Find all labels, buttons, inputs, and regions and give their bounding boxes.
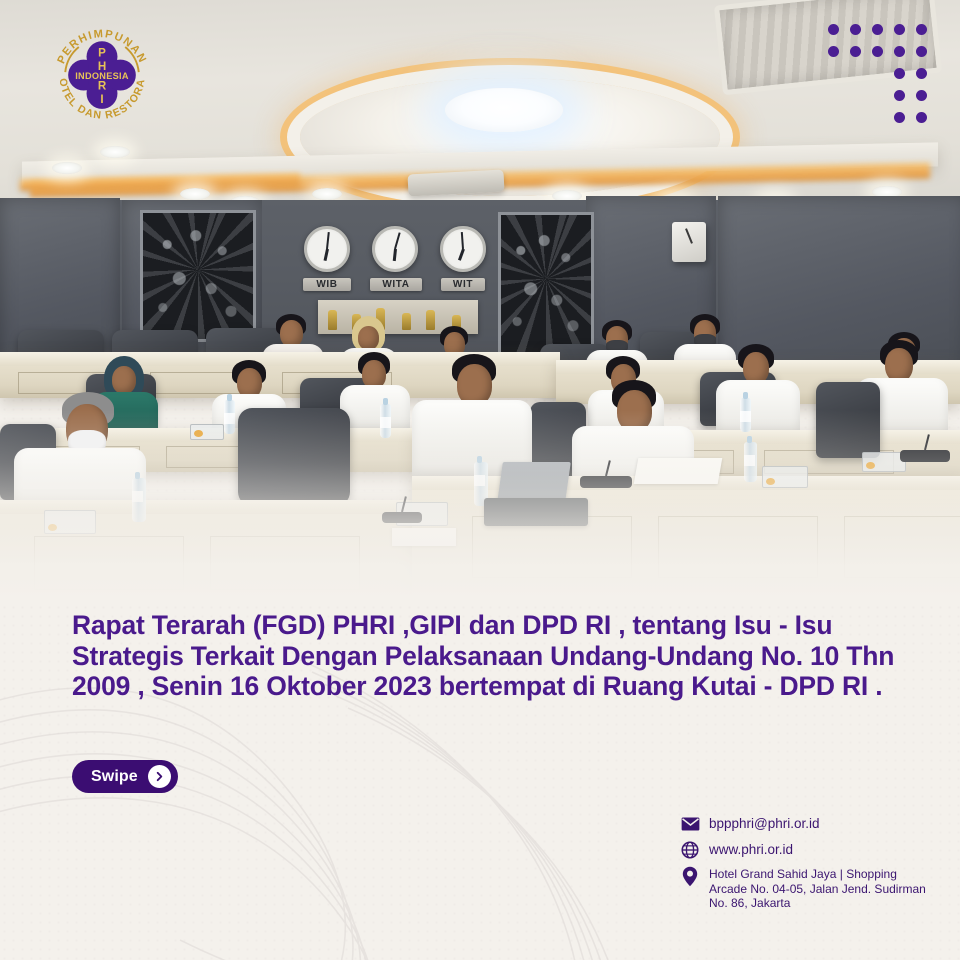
svg-text:I: I — [100, 93, 103, 106]
grid-dot — [916, 90, 927, 101]
phri-logo: PERHIMPUNAN HOTEL DAN RESTORAN P H R I I… — [44, 18, 160, 134]
desk-tier-1-right — [412, 476, 960, 600]
microphone — [900, 450, 950, 462]
contact-website-row[interactable]: www.phri.or.id — [680, 840, 930, 860]
grid-dot — [916, 24, 927, 35]
wall-speaker — [672, 222, 706, 262]
laptop — [497, 462, 571, 502]
contact-block: bppphri@phri.or.id www.phri.or.id — [680, 814, 930, 917]
downlight — [100, 146, 130, 158]
dot-grid-decoration — [828, 24, 938, 134]
svg-text:INDONESIA: INDONESIA — [75, 71, 129, 81]
grid-dot — [850, 46, 861, 57]
contact-email: bppphri@phri.or.id — [709, 814, 820, 832]
grid-dot — [872, 46, 883, 57]
ceiling-lamp — [445, 88, 563, 132]
poster-canvas: WIB WITA WIT — [0, 0, 960, 960]
grid-dot — [828, 46, 839, 57]
envelope-icon — [680, 814, 700, 834]
laptop-bag — [484, 498, 588, 526]
downlight — [180, 188, 210, 200]
contact-email-row[interactable]: bppphri@phri.or.id — [680, 814, 930, 834]
water-bottle — [744, 442, 757, 482]
contact-address: Hotel Grand Sahid Jaya | Shopping Arcade… — [709, 866, 930, 911]
carved-wall-panel-left — [140, 210, 256, 342]
clock-label-wita: WITA — [370, 278, 422, 291]
grid-dot — [894, 46, 905, 57]
svg-text:P: P — [98, 47, 106, 60]
carved-wall-panel-right — [498, 212, 594, 360]
chevron-right-icon — [148, 765, 171, 788]
grid-dot — [828, 24, 839, 35]
snack-box — [190, 424, 224, 440]
water-bottle — [132, 478, 146, 522]
grid-dot — [894, 90, 905, 101]
wall-clock-wib — [304, 226, 350, 272]
wall-clock-wita — [372, 226, 418, 272]
grid-dot — [894, 24, 905, 35]
wall-clock-wit — [440, 226, 486, 272]
globe-icon — [680, 840, 700, 860]
grid-dot — [894, 112, 905, 123]
clock-label-wit: WIT — [441, 278, 485, 291]
chair — [238, 408, 350, 506]
swipe-button[interactable]: Swipe — [72, 760, 178, 793]
microphone — [580, 476, 632, 488]
map-pin-icon — [680, 866, 700, 886]
contact-address-row: Hotel Grand Sahid Jaya | Shopping Arcade… — [680, 866, 930, 911]
downlight — [52, 162, 82, 174]
snack-box — [762, 466, 808, 488]
water-bottle — [224, 400, 235, 434]
documents — [634, 458, 723, 484]
svg-text:R: R — [98, 80, 107, 93]
grid-dot — [894, 68, 905, 79]
grid-dot — [916, 112, 927, 123]
chair — [816, 382, 880, 458]
grid-dot — [872, 24, 883, 35]
clock-label-wib: WIB — [303, 278, 351, 291]
contact-website: www.phri.or.id — [709, 840, 793, 858]
grid-dot — [916, 68, 927, 79]
microphone — [382, 512, 422, 523]
documents — [392, 528, 456, 546]
snack-box — [44, 510, 96, 534]
swipe-button-label: Swipe — [91, 768, 138, 786]
grid-dot — [916, 46, 927, 57]
downlight — [312, 188, 342, 200]
water-bottle — [740, 398, 751, 432]
headline-text: Rapat Terarah (FGD) PHRI ,GIPI dan DPD R… — [72, 610, 900, 702]
grid-dot — [850, 24, 861, 35]
water-bottle — [380, 404, 391, 438]
